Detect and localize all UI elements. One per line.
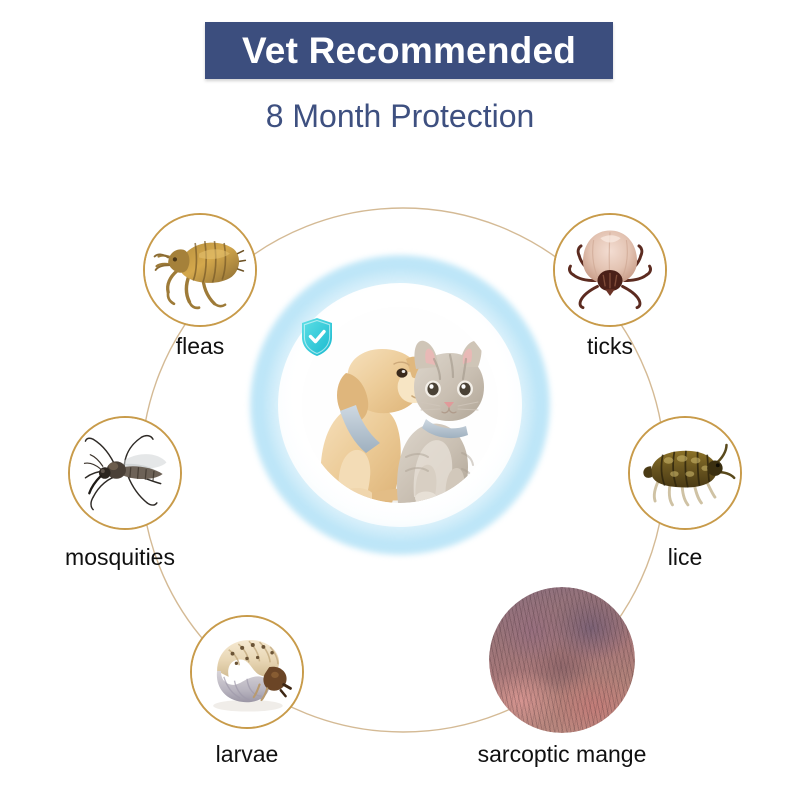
pest-label-lice: lice: [605, 543, 765, 571]
pest-bubble-larvae[interactable]: [190, 615, 304, 729]
pest-label-sarcoptic-mange: sarcoptic mange: [442, 740, 682, 768]
tick-icon: [555, 215, 665, 325]
flea-icon: [145, 215, 255, 325]
pest-bubble-fleas[interactable]: [143, 213, 257, 327]
center-product-visual: [250, 255, 550, 555]
grub-icon: [192, 617, 302, 727]
pest-bubble-lice[interactable]: [628, 416, 742, 530]
mosquito-icon: [70, 418, 180, 528]
pest-bubble-mosquities[interactable]: [68, 416, 182, 530]
louse-icon: [630, 418, 740, 528]
pest-bubble-sarcoptic-mange[interactable]: [489, 587, 635, 733]
pest-label-ticks: ticks: [530, 332, 690, 360]
mange-skin-icon: [489, 587, 635, 733]
infographic-stage: Vet Recommended 8 Month Protection: [0, 0, 800, 800]
shield-check-icon: [300, 317, 334, 357]
pest-label-mosquities: mosquities: [30, 543, 210, 571]
pest-label-larvae: larvae: [167, 740, 327, 768]
pest-label-fleas: fleas: [120, 332, 280, 360]
pest-bubble-ticks[interactable]: [553, 213, 667, 327]
